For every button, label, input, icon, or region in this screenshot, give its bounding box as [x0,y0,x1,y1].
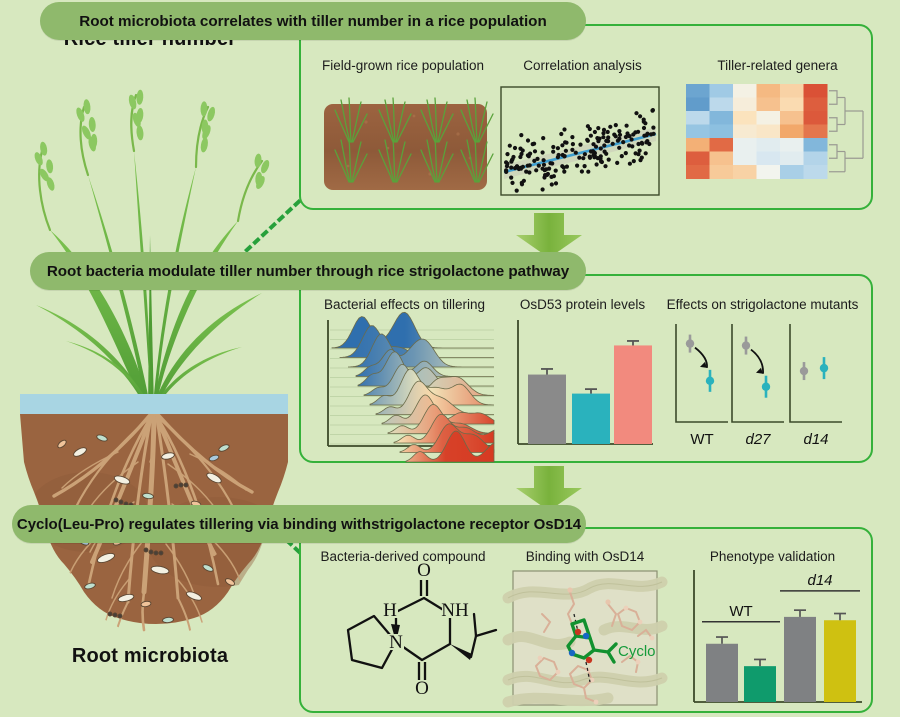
osd53-bar-figure [510,318,655,451]
tiller-related-genera-figure [686,84,866,202]
svg-text:WT: WT [690,431,713,448]
panel1-subtitle-field: Field-grown rice population [313,58,493,73]
panel2-title-text: Root bacteria modulate tiller number thr… [47,263,569,280]
svg-text:NH: NH [441,600,469,621]
panel2-title-pill: Root bacteria modulate tiller number thr… [30,252,586,290]
panel3-title-text-suffix: strigolactone receptor OsD14 [371,516,581,533]
svg-text:O: O [417,560,431,581]
svg-text:N: N [389,632,403,653]
panel3-subtitle-binding: Binding with OsD14 [505,549,665,564]
panel1-title-text: Root microbiota correlates with tiller n… [79,13,547,30]
field-grown-rice-figure [318,82,493,204]
phenotype-validation-figure: WTd14 [684,566,864,711]
svg-text:d27: d27 [745,431,771,448]
panel3-title-text-prefix: Cyclo(Leu-Pro) regulates tillering via b… [17,516,371,533]
panel3-subtitle-compound: Bacteria-derived compound [313,549,493,564]
panel1-subtitle-genera: Tiller-related genera [690,58,865,73]
panel2-subtitle-osd53: OsD53 protein levels [505,297,660,312]
panel2-subtitle-mutants: Effects on strigolactone mutants [660,297,865,312]
page-title-root-microbiota: Root microbiota [0,645,300,668]
panel1-title-pill: Root microbiota correlates with tiller n… [40,2,586,40]
svg-text:WT: WT [729,603,752,620]
osd14-binding-figure: Cyclo [512,570,658,706]
strigolactone-mutants-figure: WTd27d14 [668,318,860,458]
svg-text:H: H [383,600,397,621]
panel3-subtitle-phenotype: Phenotype validation [680,549,865,564]
cyclo-leu-pro-structure: O O NH N H [326,568,498,708]
svg-text:d14: d14 [803,431,828,448]
panel1-subtitle-correlation: Correlation analysis [500,58,665,73]
rice-plant-illustration [10,55,295,425]
panel2-subtitle-ridgeline: Bacterial effects on tillering [312,297,497,312]
panel3-title-pill: Cyclo(Leu-Pro) regulates tillering via b… [12,505,586,543]
bacterial-effects-ridgeline-figure [316,318,496,451]
svg-text:d14: d14 [807,572,832,589]
correlation-scatter-figure [500,86,660,196]
ligand-label: Cyclo [618,643,656,660]
graphical-abstract: Rice tiller number [0,0,900,717]
svg-text:O: O [415,678,429,699]
